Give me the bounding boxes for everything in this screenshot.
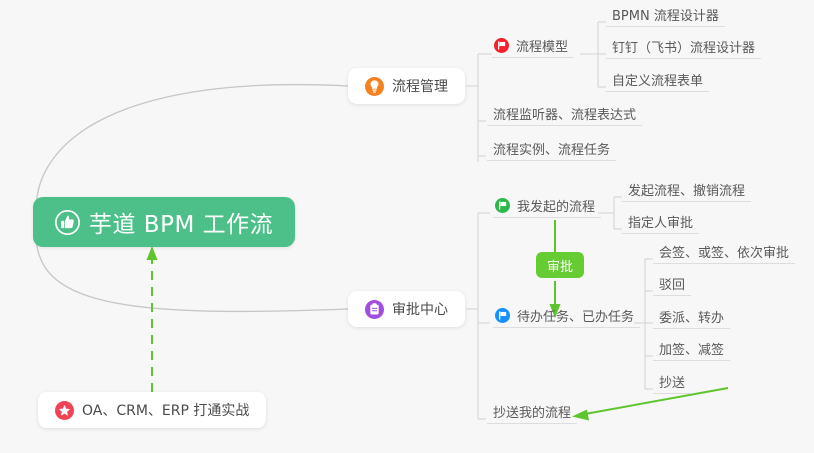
footer-node-integration-practice[interactable]: OA、CRM、ERP 打通实战 — [38, 392, 266, 428]
node-process-listener-expression[interactable]: 流程监听器、流程表达式 — [487, 104, 642, 126]
node-delegate-transfer-label: 委派、转办 — [659, 307, 724, 326]
node-dingtalk-feishu-designer[interactable]: 钉钉（飞书）流程设计器 — [606, 37, 761, 59]
node-cc-to-me-process-label: 抄送我的流程 — [493, 402, 571, 421]
node-bpmn-designer-label: BPMN 流程设计器 — [612, 5, 719, 24]
node-start-cancel-process[interactable]: 发起流程、撤销流程 — [622, 180, 751, 202]
branch-process-management[interactable]: 流程管理 — [348, 68, 465, 104]
node-assignee-approval-label: 指定人审批 — [628, 212, 693, 231]
node-todo-done-tasks-label: 待办任务、已办任务 — [517, 306, 634, 325]
mindmap-canvas: 芋道 BPM 工作流 流程管理 流程模型 BPMN 流程设计器 钉钉（飞书）流 — [0, 0, 814, 453]
flag-icon — [495, 198, 510, 213]
node-dingtalk-feishu-designer-label: 钉钉（飞书）流程设计器 — [612, 37, 755, 56]
node-process-listener-expression-label: 流程监听器、流程表达式 — [493, 104, 636, 123]
node-add-remove-sign-label: 加签、减签 — [659, 339, 724, 358]
node-cc-label: 抄送 — [659, 372, 685, 391]
flag-icon — [495, 308, 510, 323]
node-add-remove-sign[interactable]: 加签、减签 — [653, 339, 730, 361]
node-bpmn-designer[interactable]: BPMN 流程设计器 — [606, 5, 725, 27]
node-countersign-or-sequential[interactable]: 会签、或签、依次审批 — [653, 242, 795, 264]
integration-flow-arrowhead — [147, 246, 158, 260]
approval-badge[interactable]: 审批 — [536, 252, 584, 278]
node-custom-process-form-label: 自定义流程表单 — [612, 70, 703, 89]
node-my-initiated-process[interactable]: 我发起的流程 — [493, 196, 601, 218]
branch-approval-center-label: 审批中心 — [392, 299, 448, 319]
node-process-instance-task[interactable]: 流程实例、流程任务 — [487, 139, 616, 161]
approval-badge-label: 审批 — [547, 256, 573, 275]
node-my-initiated-process-label: 我发起的流程 — [517, 196, 595, 215]
node-process-model[interactable]: 流程模型 — [492, 36, 574, 58]
lightbulb-icon — [365, 77, 384, 96]
node-start-cancel-process-label: 发起流程、撤销流程 — [628, 180, 745, 199]
node-cc[interactable]: 抄送 — [653, 372, 691, 394]
node-assignee-approval[interactable]: 指定人审批 — [622, 212, 699, 234]
node-process-instance-task-label: 流程实例、流程任务 — [493, 139, 610, 158]
clipboard-icon — [365, 300, 384, 319]
node-delegate-transfer[interactable]: 委派、转办 — [653, 307, 730, 329]
node-countersign-or-sequential-label: 会签、或签、依次审批 — [659, 242, 789, 261]
thumbs-up-icon — [55, 210, 80, 235]
node-custom-process-form[interactable]: 自定义流程表单 — [606, 70, 709, 92]
node-reject-label: 驳回 — [659, 274, 685, 293]
node-process-model-label: 流程模型 — [516, 36, 568, 55]
root-node[interactable]: 芋道 BPM 工作流 — [33, 197, 295, 247]
branch-process-management-label: 流程管理 — [392, 76, 448, 96]
star-icon — [55, 401, 74, 420]
node-reject[interactable]: 驳回 — [653, 274, 691, 296]
branch-approval-center[interactable]: 审批中心 — [348, 291, 465, 327]
node-cc-to-me-process[interactable]: 抄送我的流程 — [487, 402, 577, 424]
root-label: 芋道 BPM 工作流 — [89, 205, 273, 239]
node-todo-done-tasks[interactable]: 待办任务、已办任务 — [493, 306, 640, 328]
flag-icon — [494, 38, 509, 53]
link-root-to-process-management — [36, 85, 348, 210]
footer-node-label: OA、CRM、ERP 打通实战 — [82, 400, 249, 420]
